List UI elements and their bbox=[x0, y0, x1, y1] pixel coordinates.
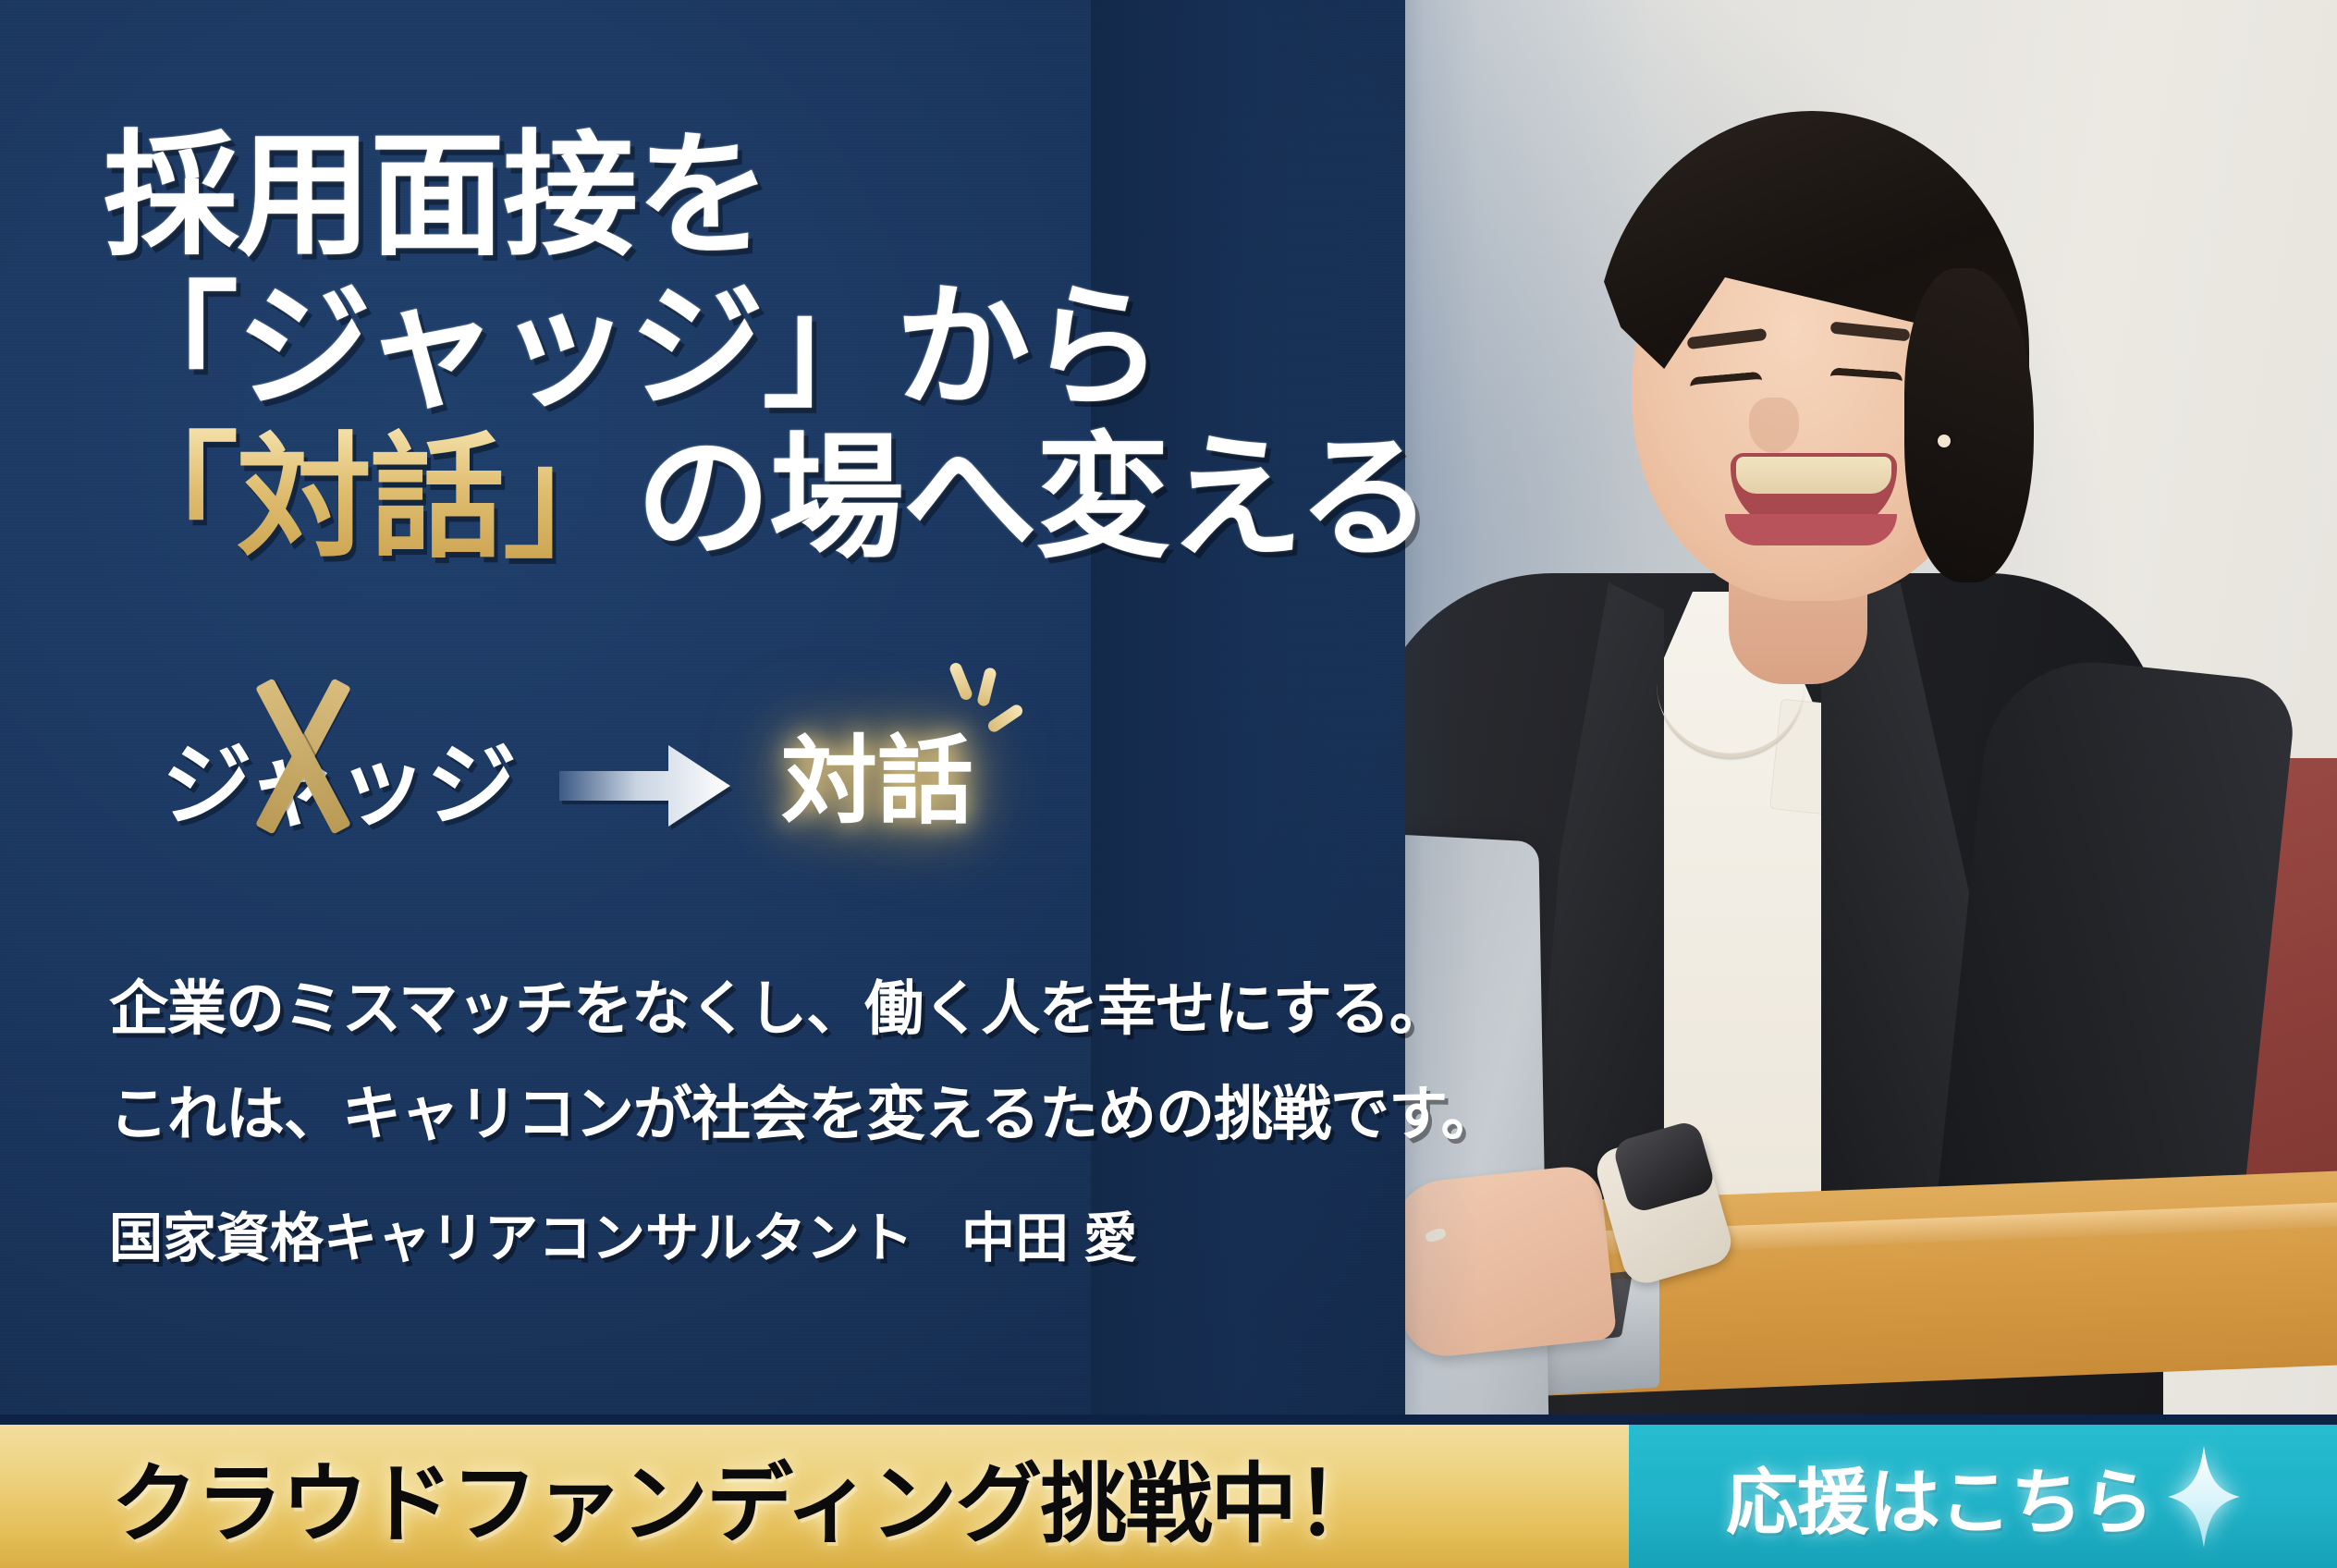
bottom-bar: クラウドファンディング挑戦中！ 応援はこちら bbox=[0, 1425, 2337, 1568]
headline-line-3-rest: の場へ変える bbox=[636, 423, 1431, 573]
before-label: ジャッジ bbox=[162, 712, 516, 843]
credit-name: 中田 愛 bbox=[961, 1208, 1137, 1268]
lead-line-2: これは、キャリコンが社会を変えるための挑戦です。 bbox=[109, 1067, 1422, 1152]
banner-root: 採用面接を 「ジャッジ」から 「対話」の場へ変える ジャッジ 対話 bbox=[0, 0, 2337, 1568]
headline-line-2: 「ジャッジ」から bbox=[104, 272, 1389, 423]
after-label: 対話 bbox=[781, 703, 973, 842]
credit-line: 国家資格キャリアコンサルタント中田 愛 bbox=[109, 1194, 1137, 1272]
earring bbox=[1938, 435, 1951, 447]
sparkle-icon bbox=[948, 662, 1033, 747]
headline-line-3: 「対話」の場へ変える bbox=[104, 423, 1389, 574]
compare-row: ジャッジ 対話 bbox=[162, 703, 1225, 869]
campaign-banner: クラウドファンディング挑戦中！ bbox=[0, 1425, 1629, 1568]
headline-line-1: 採用面接を bbox=[104, 120, 1389, 272]
nose bbox=[1749, 398, 1799, 453]
cta-button[interactable]: 応援はこちら bbox=[1629, 1425, 2337, 1568]
before-group: ジャッジ bbox=[162, 712, 516, 843]
teeth bbox=[1736, 457, 1891, 494]
right-arrow-icon bbox=[559, 743, 730, 828]
headline-block: 採用面接を 「ジャッジ」から 「対話」の場へ変える bbox=[104, 120, 1389, 574]
diamond-sparkle-icon bbox=[2168, 1446, 2240, 1548]
lead-line-1: 企業のミスマッチをなくし、働く人を幸せにする。 bbox=[109, 962, 1422, 1047]
campaign-label: クラウドファンディング挑戦中！ bbox=[111, 1434, 1380, 1560]
cta-label: 応援はこちら bbox=[1726, 1445, 2153, 1549]
lead-text-block: 企業のミスマッチをなくし、働く人を幸せにする。 これは、キャリコンが社会を変える… bbox=[109, 962, 1422, 1172]
after-group: 対話 bbox=[781, 703, 973, 842]
headline-gold-word: 「対話」 bbox=[104, 423, 636, 573]
credit-qualification: 国家資格キャリアコンサルタント bbox=[109, 1208, 913, 1268]
hair-side-strand bbox=[1904, 268, 2034, 582]
lower-lip bbox=[1725, 514, 1897, 545]
